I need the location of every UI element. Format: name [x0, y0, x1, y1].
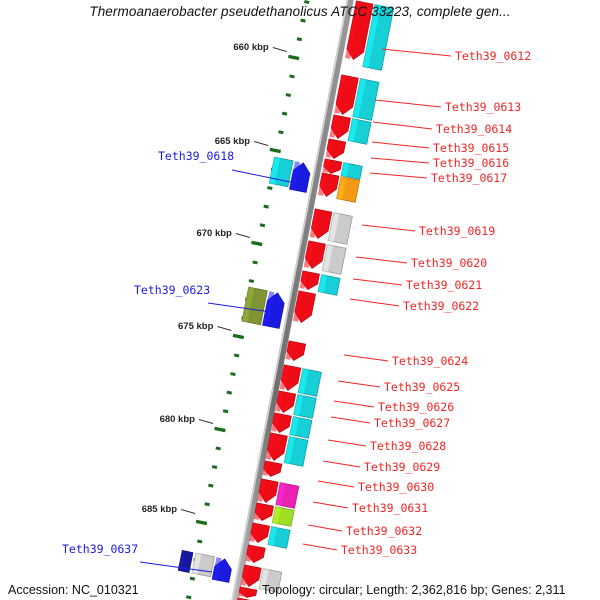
gene-label-teth39_0626[interactable]: Teth39_0626: [378, 400, 454, 414]
leader-line-fwd-16: [318, 481, 354, 487]
leader-line-fwd-4: [371, 158, 429, 163]
leader-line-fwd-0: [382, 49, 451, 56]
gene-label-teth39_0624[interactable]: Teth39_0624: [392, 354, 468, 368]
gene-label-teth39_0616[interactable]: Teth39_0616: [433, 156, 509, 170]
gene-label-teth39_0619[interactable]: Teth39_0619: [419, 224, 495, 238]
gene-label-teth39_0618[interactable]: Teth39_0618: [158, 149, 234, 163]
gene-label-teth39_0614[interactable]: Teth39_0614: [436, 122, 512, 136]
gene-label-teth39_0637[interactable]: Teth39_0637: [62, 542, 138, 556]
gene-label-teth39_0615[interactable]: Teth39_0615: [433, 141, 509, 155]
genome-map-canvas[interactable]: 660 kbp665 kbp670 kbp675 kbp680 kbp685 k…: [0, 0, 600, 600]
gene-label-teth39_0628[interactable]: Teth39_0628: [370, 439, 446, 453]
status-bar: Accession: NC_010321 Topology: circular;…: [0, 578, 600, 600]
leader-line-fwd-3: [372, 142, 429, 148]
gene-label-teth39_0625[interactable]: Teth39_0625: [384, 380, 460, 394]
ruler-tick-label-2: 670 kbp: [196, 228, 232, 239]
gene-label-teth39_0622[interactable]: Teth39_0622: [403, 299, 479, 313]
leader-line-fwd-7: [356, 257, 407, 263]
gene-label-teth39_0633[interactable]: Teth39_0633: [341, 543, 417, 557]
leader-line-fwd-9: [350, 299, 399, 306]
genome-viewer[interactable]: Thermoanaerobacter pseudethanolicus ATCC…: [0, 0, 600, 600]
gene-label-teth39_0629[interactable]: Teth39_0629: [364, 460, 440, 474]
leader-line-fwd-12: [334, 401, 374, 407]
ruler-tick-label-3: 675 kbp: [178, 321, 214, 332]
leader-line-fwd-1: [375, 100, 441, 107]
leader-line-fwd-11: [338, 381, 380, 387]
ruler-tick-label-5: 685 kbp: [142, 504, 178, 515]
accession-text: Accession: NC_010321: [8, 583, 139, 597]
topology-text: Topology: circular; Length: 2,362,816 bp…: [262, 583, 565, 597]
gene-label-teth39_0620[interactable]: Teth39_0620: [411, 256, 487, 270]
gene-label-teth39_0630[interactable]: Teth39_0630: [358, 480, 434, 494]
leader-line-fwd-5: [370, 173, 427, 178]
gene-label-teth39_0627[interactable]: Teth39_0627: [374, 416, 450, 430]
gene-label-teth39_0621[interactable]: Teth39_0621: [406, 278, 482, 292]
ruler-tick-label-4: 680 kbp: [160, 414, 196, 425]
gene-label-teth39_0617[interactable]: Teth39_0617: [431, 171, 507, 185]
gene-label-teth39_0632[interactable]: Teth39_0632: [346, 524, 422, 538]
leader-line-fwd-13: [331, 417, 370, 423]
leader-line-fwd-8: [353, 279, 402, 285]
gene-label-teth39_0631[interactable]: Teth39_0631: [352, 501, 428, 515]
leader-line-fwd-10: [344, 355, 388, 361]
leader-line-fwd-14: [328, 440, 366, 446]
leader-line-fwd-6: [362, 225, 415, 231]
ruler-tick-label-0: 660 kbp: [233, 42, 269, 53]
gene-label-teth39_0623[interactable]: Teth39_0623: [134, 283, 210, 297]
leader-line-fwd-17: [313, 502, 348, 508]
leader-line-fwd-15: [323, 461, 360, 467]
leader-line-fwd-2: [373, 122, 432, 129]
gene-label-teth39_0613[interactable]: Teth39_0613: [445, 100, 521, 114]
ruler-tick-label-1: 665 kbp: [215, 136, 251, 147]
gene-label-teth39_0612[interactable]: Teth39_0612: [455, 49, 531, 63]
leader-line-fwd-19: [303, 544, 337, 550]
leader-line-fwd-18: [308, 525, 342, 531]
